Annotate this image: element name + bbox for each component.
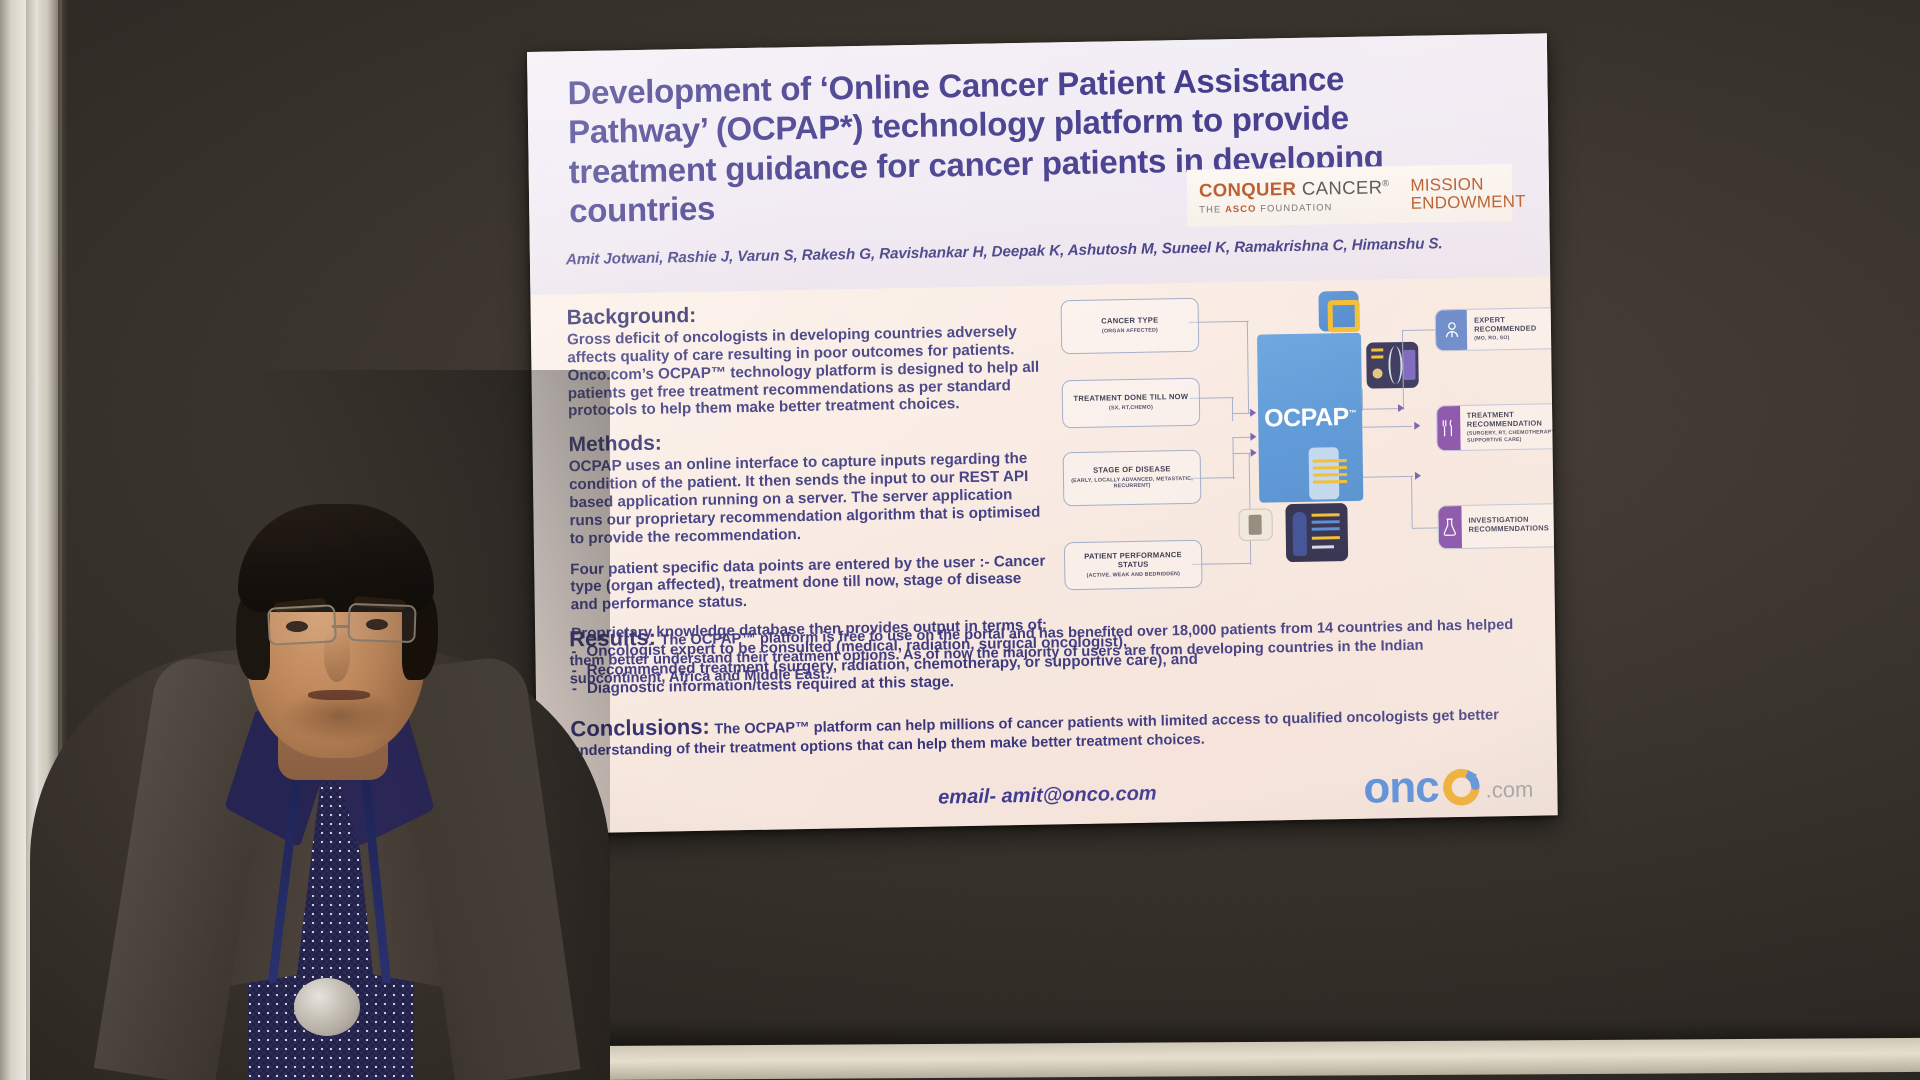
conclusions-text: The OCPAP™ platform can help millions of… — [571, 707, 1499, 759]
input-subtitle: (ACTIVE, WEAK AND BEDRIDDEN) — [1087, 571, 1180, 579]
input-title: CANCER TYPE — [1101, 317, 1158, 327]
input-subtitle: (SX, RT,CHEMO) — [1109, 405, 1153, 412]
connector-line — [1232, 437, 1234, 479]
arrow-icon — [1415, 472, 1421, 480]
output-title: EXPERT RECOMMENDED — [1474, 315, 1558, 334]
output-text: TREATMENT RECOMMENDATION (SURGERY, RT, C… — [1460, 410, 1558, 444]
device-tile-icon — [1238, 508, 1272, 541]
output-title: INVESTIGATION RECOMMENDATIONS — [1468, 516, 1557, 535]
dna-tile-icon — [1366, 342, 1419, 389]
arrow-icon — [1414, 422, 1420, 430]
input-title: TREATMENT DONE TILL NOW — [1073, 393, 1188, 404]
registered-mark-icon: ® — [1382, 178, 1389, 188]
trademark-icon: ™ — [1349, 408, 1357, 417]
arrow-icon — [1398, 404, 1404, 412]
flask-icon — [1438, 506, 1461, 548]
eyeglasses-bridge — [332, 625, 350, 628]
hair — [238, 504, 434, 612]
conquer-word: CONQUER — [1199, 178, 1297, 201]
input-title: PATIENT PERFORMANCE STATUS — [1069, 551, 1197, 571]
cancer-word: CANCER — [1296, 177, 1382, 200]
list-tile-icon — [1309, 447, 1340, 500]
input-box-stage-of-disease: STAGE OF DISEASE (EARLY, LOCALLY ADVANCE… — [1063, 450, 1202, 507]
conquer-cancer-logo: CONQUER CANCER® THE ASCO FOUNDATION MISS… — [1187, 164, 1513, 227]
results-text: The OCPAP™ platform is free to use on th… — [569, 617, 1513, 688]
asco-post: FOUNDATION — [1256, 201, 1332, 213]
mission-endowment-block: MISSION ENDOWMENT — [1399, 175, 1526, 212]
input-box-cancer-type: CANCER TYPE (ORGAN AFFECTED) — [1061, 298, 1200, 355]
connector-line — [1411, 476, 1413, 528]
output-box-investigation-recommendations: INVESTIGATION RECOMMENDATIONS — [1437, 503, 1557, 549]
arrow-icon — [1250, 433, 1256, 441]
data-points-text: Four patient specific data points are en… — [570, 552, 1051, 614]
ocpap-core-label: OCPAP™ — [1264, 402, 1356, 433]
chip-tile-icon — [1318, 291, 1359, 332]
methods-text: OCPAP uses an online interface to captur… — [569, 450, 1050, 548]
connector-line — [1362, 389, 1364, 411]
endowment-line: ENDOWMENT — [1411, 192, 1526, 212]
asco-foundation-line: THE ASCO FOUNDATION — [1199, 200, 1390, 214]
conclusions-section: Conclusions: The OCPAP™ platform can hel… — [570, 699, 1530, 761]
asco-word: ASCO — [1225, 202, 1257, 214]
asco-pre: THE — [1199, 203, 1225, 214]
connector-line — [1247, 321, 1250, 413]
patient-report-tile-icon — [1285, 503, 1348, 562]
presenter-person — [30, 370, 610, 1080]
conquer-cancer-wordmark: CONQUER CANCER® — [1199, 178, 1390, 200]
onco-circular-arrow-icon — [1439, 763, 1484, 808]
connector-line — [1412, 527, 1440, 529]
input-subtitle: (EARLY, LOCALLY ADVANCED, METASTATIC, RE… — [1068, 476, 1196, 491]
output-box-treatment-recommendation: TREATMENT RECOMMENDATION (SURGERY, RT, C… — [1436, 403, 1558, 451]
eyeglasses-lens-right — [347, 603, 416, 643]
background-text: Gross deficit of oncologists in developi… — [567, 323, 1048, 421]
conquer-cancer-left: CONQUER CANCER® THE ASCO FOUNDATION — [1187, 178, 1400, 214]
ocpap-flow-diagram: CANCER TYPE (ORGAN AFFECTED) TREATMENT D… — [1060, 286, 1534, 613]
arrow-icon — [1250, 409, 1256, 417]
output-title: TREATMENT RECOMMENDATION — [1467, 410, 1558, 429]
onco-dot-com-logo: onc .com — [1363, 762, 1534, 809]
connector-line — [1363, 476, 1413, 478]
nose — [324, 630, 350, 682]
input-box-performance-status: PATIENT PERFORMANCE STATUS (ACTIVE, WEAK… — [1064, 540, 1203, 591]
onco-dotcom-suffix: .com — [1486, 777, 1534, 807]
input-box-treatment-done: TREATMENT DONE TILL NOW (SX, RT,CHEMO) — [1062, 378, 1201, 429]
output-text: EXPERT RECOMMENDED (MO, RO, SO) — [1467, 315, 1558, 342]
conference-poster: Development of ‘Online Cancer Patient As… — [527, 33, 1558, 834]
output-subtitle: (MO, RO, SO) — [1474, 334, 1557, 342]
photo-scene: Development of ‘Online Cancer Patient As… — [0, 0, 1920, 1080]
connector-line — [1402, 329, 1436, 331]
output-subtitle: (SURGERY, RT, CHEMOTHERAPY, SUPPORTIVE C… — [1467, 429, 1558, 444]
connector-line — [1232, 397, 1234, 421]
output-subtitle — [1469, 535, 1558, 537]
input-title: STAGE OF DISEASE — [1093, 466, 1171, 476]
chin-shadow — [280, 688, 398, 742]
arrow-icon — [1251, 449, 1257, 457]
person-icon — [1436, 310, 1468, 351]
output-box-expert-recommended: EXPERT RECOMMENDED (MO, RO, SO) — [1435, 307, 1558, 351]
input-subtitle: (ORGAN AFFECTED) — [1102, 328, 1158, 335]
output-text: INVESTIGATION RECOMMENDATIONS — [1461, 516, 1557, 537]
connector-line — [1362, 426, 1412, 428]
onco-wordmark: onc — [1363, 767, 1439, 809]
surgical-tools-icon — [1437, 406, 1460, 450]
badge-pendant — [294, 978, 360, 1036]
